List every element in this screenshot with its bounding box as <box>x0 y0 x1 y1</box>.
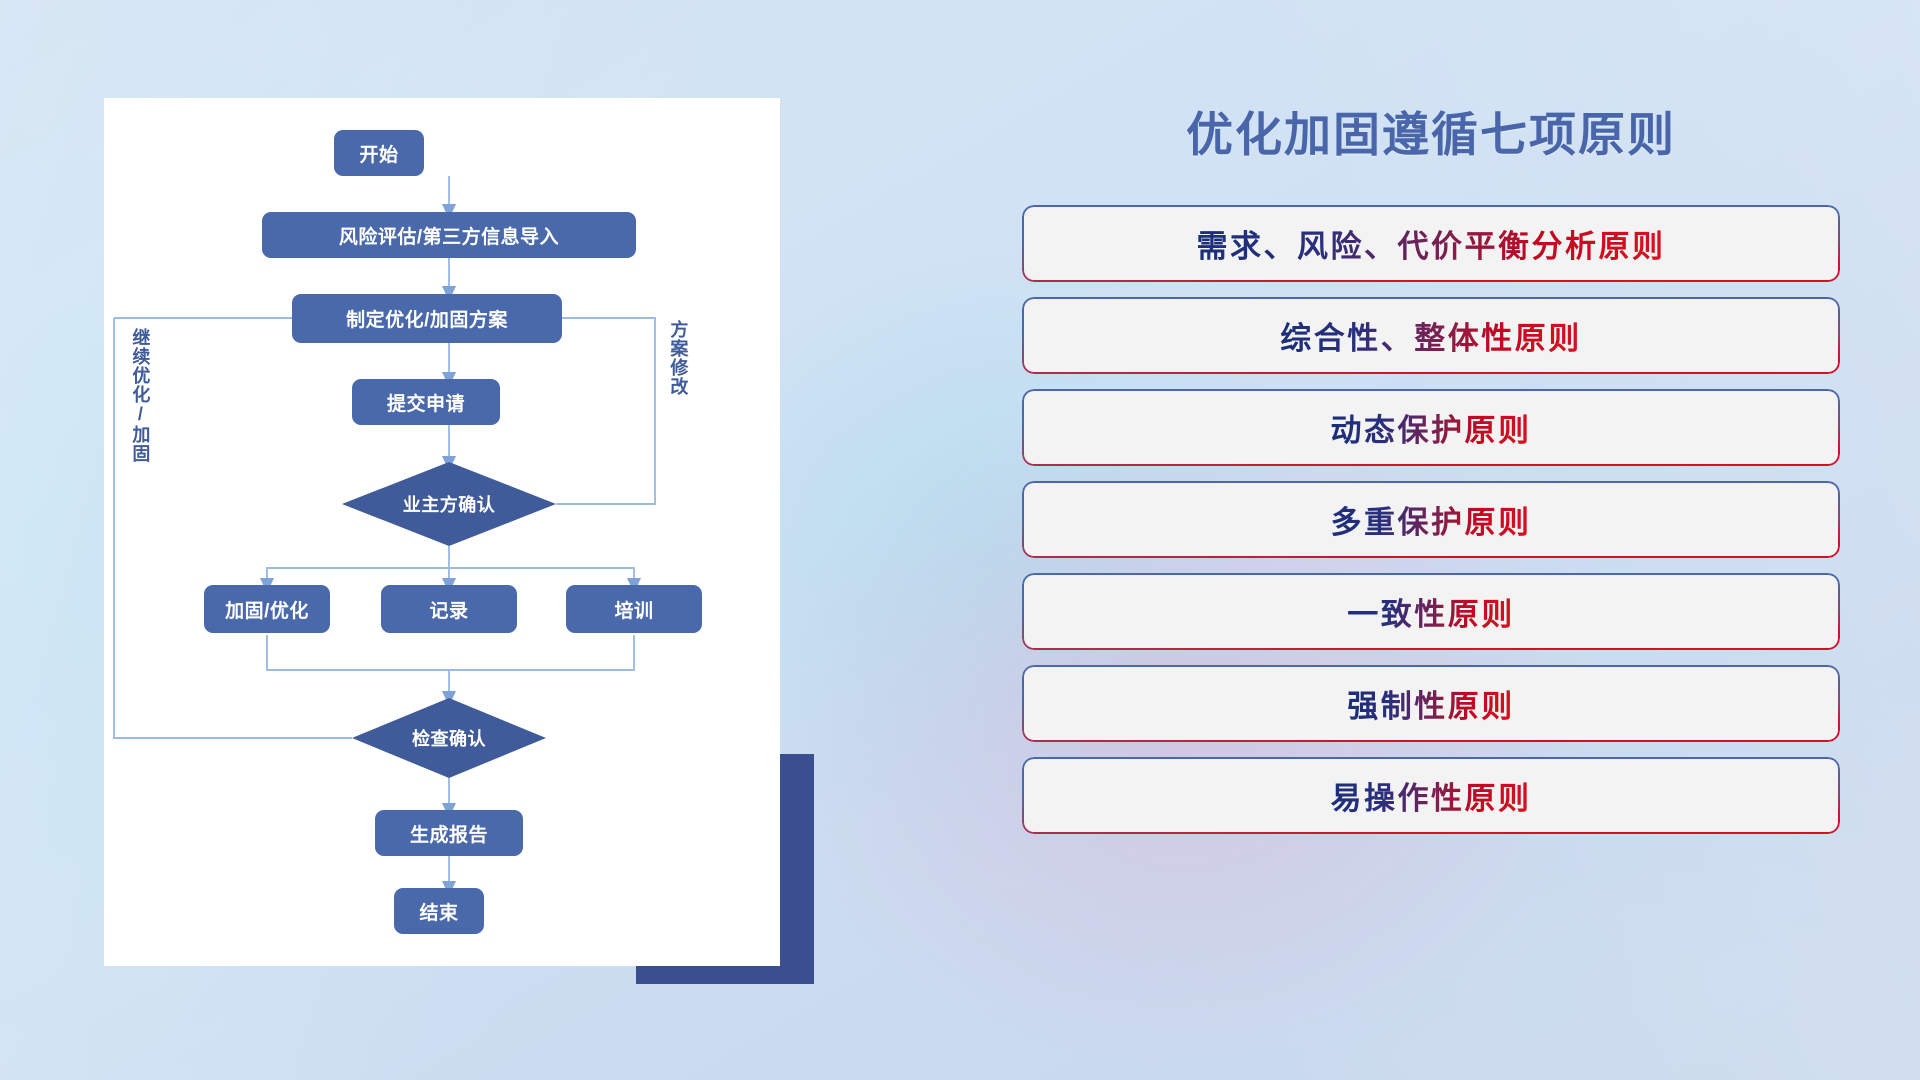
principle-card-7[interactable]: 易操作性原则 <box>1022 757 1840 834</box>
flow-node-make-plan[interactable]: 制定优化/加固方案 <box>292 294 562 343</box>
flow-node-training[interactable]: 培训 <box>566 585 702 633</box>
flow-node-gen-report-label: 生成报告 <box>410 820 488 847</box>
flow-node-start[interactable]: 开始 <box>334 130 424 176</box>
flow-node-start-label: 开始 <box>359 140 398 167</box>
principles-list: 需求、风险、代价平衡分析原则 综合性、整体性原则 动态保护原则 多重保护原则 一… <box>1022 205 1840 834</box>
principle-label: 动态保护原则 <box>1331 405 1532 450</box>
flowchart-card: 开始 风险评估/第三方信息导入 制定优化/加固方案 提交申请 业主方确认 加固/… <box>104 98 780 966</box>
principle-label: 多重保护原则 <box>1331 497 1532 542</box>
principle-label: 需求、风险、代价平衡分析原则 <box>1197 221 1666 266</box>
flow-node-make-plan-label: 制定优化/加固方案 <box>346 305 508 332</box>
principle-label: 易操作性原则 <box>1331 773 1532 818</box>
flow-node-reinforce-label: 加固/优化 <box>225 596 309 623</box>
flow-node-owner-confirm-label: 业主方确认 <box>403 491 496 517</box>
principle-card-2[interactable]: 综合性、整体性原则 <box>1022 297 1840 374</box>
principle-card-5[interactable]: 一致性原则 <box>1022 573 1840 650</box>
flow-node-owner-confirm[interactable]: 业主方确认 <box>342 462 556 546</box>
flow-node-training-label: 培训 <box>614 596 653 623</box>
principle-label: 一致性原则 <box>1347 589 1515 634</box>
flow-node-reinforce[interactable]: 加固/优化 <box>204 585 330 633</box>
flow-node-record-label: 记录 <box>429 596 468 623</box>
flow-node-end-label: 结束 <box>419 898 458 925</box>
flow-node-submit[interactable]: 提交申请 <box>352 379 500 425</box>
flow-node-check-confirm-label: 检查确认 <box>412 725 486 751</box>
flow-node-end[interactable]: 结束 <box>394 888 484 934</box>
principle-card-4[interactable]: 多重保护原则 <box>1022 481 1840 558</box>
slide-root: 开始 风险评估/第三方信息导入 制定优化/加固方案 提交申请 业主方确认 加固/… <box>0 0 1920 1080</box>
principles-pane: 优化加固遵循七项原则 需求、风险、代价平衡分析原则 综合性、整体性原则 动态保护… <box>1022 96 1840 1006</box>
flowchart-canvas: 开始 风险评估/第三方信息导入 制定优化/加固方案 提交申请 业主方确认 加固/… <box>104 98 780 966</box>
flow-node-submit-label: 提交申请 <box>387 389 465 416</box>
flow-node-risk-assess[interactable]: 风险评估/第三方信息导入 <box>262 212 636 258</box>
flow-node-record[interactable]: 记录 <box>381 585 517 633</box>
principle-label: 强制性原则 <box>1347 681 1515 726</box>
flow-edge-label-left-loop: 继续优化/加固 <box>131 328 149 463</box>
principle-card-1[interactable]: 需求、风险、代价平衡分析原则 <box>1022 205 1840 282</box>
page-title: 优化加固遵循七项原则 <box>1022 96 1840 165</box>
principle-card-6[interactable]: 强制性原则 <box>1022 665 1840 742</box>
flow-node-risk-assess-label: 风险评估/第三方信息导入 <box>339 222 559 249</box>
flow-edge-label-right-loop: 方案修改 <box>669 320 687 396</box>
flow-node-check-confirm[interactable]: 检查确认 <box>352 698 546 778</box>
principle-card-3[interactable]: 动态保护原则 <box>1022 389 1840 466</box>
principle-label: 综合性、整体性原则 <box>1280 313 1582 358</box>
flow-node-gen-report[interactable]: 生成报告 <box>375 810 523 856</box>
